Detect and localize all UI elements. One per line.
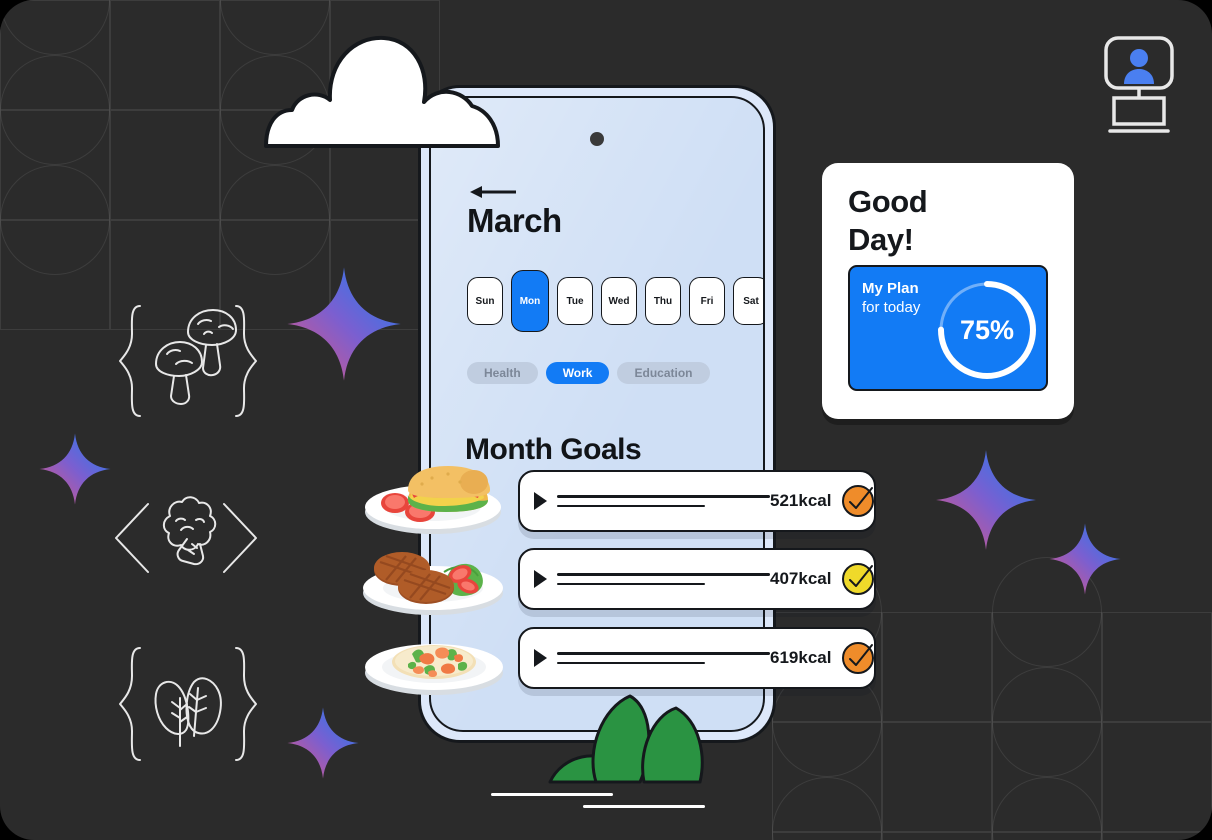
plan-label: My Plan for today — [862, 279, 920, 317]
play-triangle-icon[interactable] — [534, 649, 547, 667]
chip-label: Education — [634, 366, 692, 380]
day-pill-mon[interactable]: Mon — [511, 270, 549, 332]
my-plan-widget[interactable]: My Plan for today 75% — [848, 265, 1048, 391]
sparkle-icon — [38, 432, 112, 506]
day-label: Sat — [743, 296, 759, 307]
grid-cell — [1102, 722, 1212, 832]
grid-circle — [0, 165, 110, 275]
grid-cell — [772, 722, 882, 832]
day-pill-fri[interactable]: Fri — [689, 277, 725, 325]
avatar-body — [1124, 69, 1154, 84]
table-row[interactable]: 521kcal — [518, 470, 876, 532]
goal-placeholder-lines — [557, 573, 770, 585]
grid-cell — [992, 832, 1102, 840]
day-pill-sun[interactable]: Sun — [467, 277, 503, 325]
grid-cell — [992, 612, 1102, 722]
progress-ring: 75% — [920, 265, 1048, 391]
day-label: Wed — [609, 296, 630, 307]
grid-cell — [882, 612, 992, 722]
day-label: Mon — [520, 296, 541, 307]
plan-title: My Plan — [862, 279, 920, 298]
table-row[interactable]: 619kcal — [518, 627, 876, 689]
grid-circle — [992, 667, 1102, 777]
grid-circle — [772, 777, 882, 840]
leaves-icon — [548, 690, 758, 786]
day-pill-tue[interactable]: Tue — [557, 277, 593, 325]
grid-cell — [992, 722, 1102, 832]
grid-cell — [772, 832, 882, 840]
chip-work[interactable]: Work — [546, 362, 610, 384]
goal-line-secondary — [557, 583, 705, 586]
card-title: Good Day! — [848, 183, 927, 259]
sparkle-icon — [286, 706, 360, 780]
goal-line-primary — [557, 652, 770, 655]
plan-subtitle: for today — [862, 298, 920, 317]
mushroom-braces-icon — [118, 296, 258, 426]
sandwich-plate-icon — [362, 456, 504, 536]
grid-circle — [0, 55, 110, 165]
day-selector[interactable]: Sun Mon Tue Wed Thu Fri Sat — [467, 270, 765, 332]
check-circle-icon[interactable] — [841, 562, 875, 596]
play-triangle-icon[interactable] — [534, 570, 547, 588]
avatar-head — [1130, 49, 1148, 67]
play-triangle-icon[interactable] — [534, 492, 547, 510]
day-pill-wed[interactable]: Wed — [601, 277, 637, 325]
day-label: Fri — [701, 296, 714, 307]
grid-cell — [1102, 612, 1212, 722]
day-label: Tue — [566, 296, 583, 307]
check-circle-icon[interactable] — [841, 641, 875, 675]
chip-health[interactable]: Health — [467, 362, 538, 384]
goal-placeholder-lines — [557, 495, 770, 507]
goal-line-secondary — [557, 505, 705, 508]
goal-kcal-value: 407kcal — [770, 569, 831, 589]
arrow-left-icon[interactable] — [468, 182, 518, 202]
progress-value: 75% — [920, 265, 1048, 391]
goal-kcal-value: 521kcal — [770, 491, 831, 511]
grid-cell — [110, 110, 220, 220]
grid-cell — [1102, 832, 1212, 840]
poster-canvas: March Sun Mon Tue Wed Thu Fri Sat Health… — [0, 0, 1212, 840]
broccoli-angle-icon — [110, 482, 262, 594]
day-label: Sun — [476, 296, 495, 307]
goal-kcal-value: 619kcal — [770, 648, 831, 668]
category-filter[interactable]: Health Work Education — [467, 362, 710, 384]
grid-circle — [220, 165, 330, 275]
goal-line-primary — [557, 495, 770, 498]
grid-circle — [992, 777, 1102, 840]
goal-line-primary — [557, 573, 770, 576]
goal-line-secondary — [557, 662, 705, 665]
grid-cell — [882, 722, 992, 832]
goal-placeholder-lines — [557, 652, 770, 664]
day-pill-thu[interactable]: Thu — [645, 277, 681, 325]
grid-cell — [0, 220, 110, 330]
ground-line-secondary — [583, 805, 705, 808]
monitor-user-icon — [1102, 34, 1176, 136]
grid-cell — [882, 832, 992, 840]
grid-cell — [110, 0, 220, 110]
table-row[interactable]: 407kcal — [518, 548, 876, 610]
grid-cell — [0, 0, 110, 110]
sparkle-icon — [934, 448, 1038, 552]
day-pill-sat[interactable]: Sat — [733, 277, 765, 325]
chip-label: Health — [484, 366, 521, 380]
check-circle-icon[interactable] — [841, 484, 875, 518]
camera-dot-icon — [590, 132, 604, 146]
spinach-braces-icon — [118, 638, 258, 770]
pasta-plate-icon — [362, 620, 506, 698]
cloud-icon — [262, 28, 502, 150]
grid-cell — [0, 110, 110, 220]
good-day-card: Good Day! My Plan for today 75% — [822, 163, 1074, 419]
sparkle-icon — [1048, 522, 1122, 596]
day-label: Thu — [654, 296, 672, 307]
chip-education[interactable]: Education — [617, 362, 709, 384]
page-title: March — [467, 202, 562, 240]
grid-circle — [0, 0, 110, 55]
chip-label: Work — [563, 366, 593, 380]
ground-line-primary — [491, 793, 613, 796]
sparkle-icon — [285, 265, 403, 383]
steak-plate-icon — [360, 538, 506, 618]
